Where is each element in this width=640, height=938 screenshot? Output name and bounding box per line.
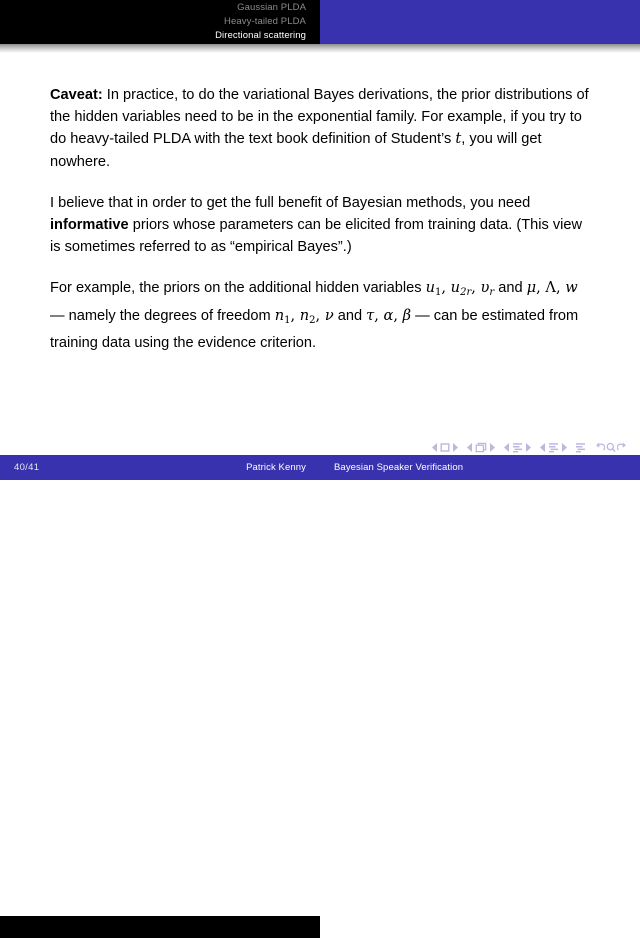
math-sep-7: , [374, 307, 383, 324]
footer-presentation-title: Bayesian Speaker Verification [334, 462, 463, 473]
appendix-navigation-group [596, 442, 626, 453]
header-nav-item-heavy-tailed-plda[interactable]: Heavy-tailed PLDA [0, 15, 306, 29]
math-sep-8: , [393, 307, 402, 324]
math-alpha: α [384, 307, 394, 324]
header-shadow [0, 44, 640, 53]
math-u2: u [451, 279, 460, 296]
footer-black-panel [0, 916, 320, 938]
back-icon[interactable] [596, 442, 605, 453]
caveat-label: Caveat: [50, 87, 103, 103]
section-icon[interactable] [548, 442, 559, 453]
math-n1: n [275, 307, 284, 324]
subsection-icon[interactable] [512, 442, 523, 453]
section-navigation-group [539, 442, 568, 453]
header-nav-item-gaussian-plda[interactable]: Gaussian PLDA [0, 1, 306, 15]
math-sep-2: , [471, 279, 480, 296]
math-sep-5: , [290, 307, 299, 324]
paragraph-caveat: Caveat: In practice, to do the variation… [50, 84, 595, 173]
next-section-icon[interactable] [561, 442, 568, 453]
header-nav-item-directional-scattering[interactable]: Directional scattering [0, 29, 306, 43]
informative-emphasis: informative [50, 217, 129, 233]
subsection-navigation-group [503, 442, 532, 453]
beamer-navigation-symbols [431, 440, 626, 454]
previous-slide-icon[interactable] [431, 442, 438, 453]
hidden-vars-conj-1: and [494, 280, 526, 296]
informative-text-part2: priors whose parameters can be elicited … [50, 217, 582, 255]
slide-content: Caveat: In practice, to do the variation… [50, 84, 595, 354]
slide-icon[interactable] [440, 442, 450, 453]
math-nu: ν [325, 307, 334, 324]
math-mu: μ [527, 279, 537, 296]
hidden-vars-conj-2: and [334, 308, 366, 324]
frame-icon[interactable] [475, 442, 487, 453]
header-navigation-list: Gaussian PLDA Heavy-tailed PLDA Directio… [0, 0, 320, 44]
previous-section-icon[interactable] [539, 442, 546, 453]
hidden-vars-lead: For example, the priors on the additiona… [50, 280, 426, 296]
math-u: u [426, 279, 435, 296]
hidden-vars-mid: — namely the degrees of freedom [50, 308, 275, 324]
forward-icon[interactable] [617, 442, 626, 453]
next-frame-icon[interactable] [489, 442, 496, 453]
frame-navigation-group [466, 442, 496, 453]
header-bar: Gaussian PLDA Heavy-tailed PLDA Directio… [0, 0, 640, 44]
math-n2: n [300, 307, 309, 324]
paragraph-hidden-variables: For example, the priors on the additiona… [50, 277, 595, 354]
search-icon[interactable] [606, 442, 616, 453]
math-u2-subscript-2r: 2r [460, 287, 471, 298]
math-lambda: Λ [545, 279, 556, 296]
paragraph-informative-priors: I believe that in order to get the full … [50, 192, 595, 259]
next-subsection-icon[interactable] [525, 442, 532, 453]
footer-author: Patrick Kenny [0, 462, 306, 473]
previous-frame-icon[interactable] [466, 442, 473, 453]
next-slide-icon[interactable] [452, 442, 459, 453]
math-beta: β [403, 307, 411, 324]
presentation-icon[interactable] [575, 442, 586, 453]
presentation-navigation-group [575, 442, 586, 453]
math-w: w [565, 279, 578, 296]
slide-navigation-group [431, 442, 459, 453]
informative-text-part1: I believe that in order to get the full … [50, 195, 530, 211]
math-sep-1: , [441, 279, 450, 296]
math-sep-6: , [316, 307, 325, 324]
math-sep-4: , [556, 279, 565, 296]
previous-subsection-icon[interactable] [503, 442, 510, 453]
